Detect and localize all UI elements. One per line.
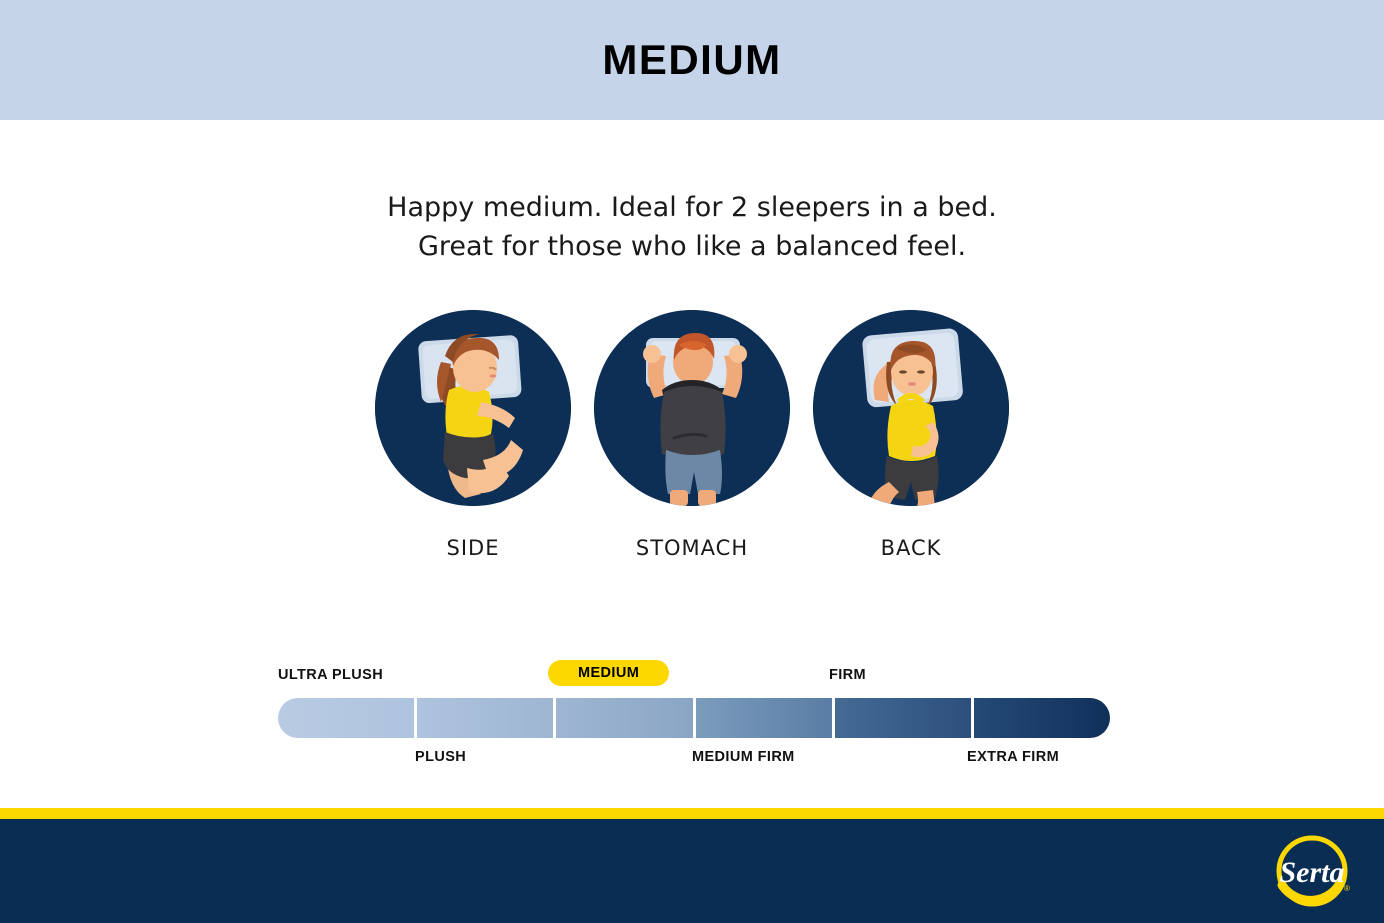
sleeper-label-back: BACK — [813, 536, 1009, 560]
side-sleeper-illustration — [375, 310, 571, 506]
firmness-selected-badge-medium[interactable]: MEDIUM — [548, 660, 669, 686]
serta-logo-text: Serta — [1279, 856, 1344, 889]
firmness-scale: ULTRA PLUSH MEDIUM FIRM PLUSH MEDIUM FIR… — [278, 660, 1110, 770]
firmness-segment-extra-firm[interactable] — [974, 698, 1110, 738]
sleeper-card-stomach: STOMACH — [594, 310, 790, 560]
stomach-sleeper-illustration — [594, 310, 790, 506]
sleeper-label-stomach: STOMACH — [594, 536, 790, 560]
firmness-label-medium-firm: MEDIUM FIRM — [692, 746, 795, 768]
footer-accent-stripe — [0, 808, 1384, 819]
description-line-2: Great for those who like a balanced feel… — [0, 227, 1384, 266]
page-title: MEDIUM — [602, 36, 781, 84]
description-text: Happy medium. Ideal for 2 sleepers in a … — [0, 188, 1384, 266]
firmness-segment-medium-firm[interactable] — [696, 698, 835, 738]
description-line-1: Happy medium. Ideal for 2 sleepers in a … — [0, 188, 1384, 227]
firmness-segment-plush[interactable] — [417, 698, 556, 738]
firmness-label-extra-firm: EXTRA FIRM — [967, 746, 1059, 768]
serta-logo: Serta ® — [1266, 833, 1362, 909]
header-bar: MEDIUM — [0, 0, 1384, 120]
sleeper-card-back: BACK — [813, 310, 1009, 560]
sleeper-card-side: SIDE — [375, 310, 571, 560]
sleeper-label-side: SIDE — [375, 536, 571, 560]
firmness-label-ultra-plush: ULTRA PLUSH — [278, 664, 383, 686]
footer-bar: Serta ® — [0, 819, 1384, 923]
sleeper-positions-group: SIDE — [0, 310, 1384, 580]
firmness-gradient-bar — [278, 698, 1110, 738]
firmness-label-plush: PLUSH — [415, 746, 466, 768]
firmness-segment-medium[interactable] — [556, 698, 695, 738]
firmness-segment-firm[interactable] — [835, 698, 974, 738]
serta-registered-mark: ® — [1344, 884, 1350, 893]
firmness-segment-ultra-plush[interactable] — [278, 698, 417, 738]
firmness-labels-top: ULTRA PLUSH MEDIUM FIRM — [278, 660, 1110, 688]
firmness-label-firm: FIRM — [829, 664, 866, 686]
back-sleeper-illustration — [813, 310, 1009, 506]
firmness-labels-bottom: PLUSH MEDIUM FIRM EXTRA FIRM — [278, 746, 1110, 774]
